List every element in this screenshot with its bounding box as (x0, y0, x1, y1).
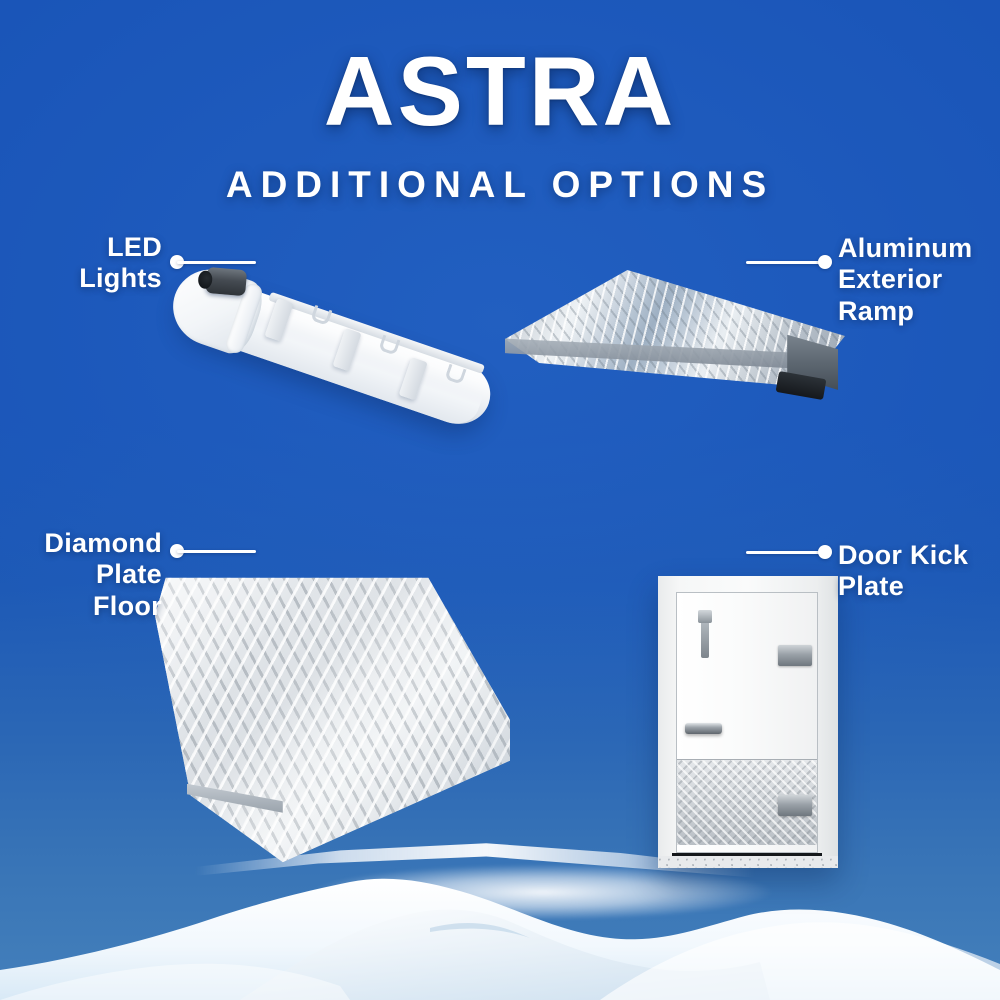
door-hinge-bottom (778, 795, 812, 816)
leader-bar (177, 550, 256, 553)
callout-led-lights: LED Lights (22, 232, 162, 295)
callout-door-kick-plate: Door Kick Plate (838, 540, 990, 603)
leader-dot-icon (818, 255, 832, 269)
product-image-aluminum-ramp (505, 270, 845, 420)
callout-label-led-lights: LED Lights (22, 232, 162, 295)
callout-label-diamond-plate-floor: Diamond Plate Floor (10, 528, 162, 622)
callout-label-door-kick-plate: Door Kick Plate (838, 540, 990, 603)
leader-line-door-kick-plate (746, 545, 832, 559)
door-leaf (676, 592, 818, 853)
door-floor-surface (658, 856, 838, 868)
led-cable-gland (205, 267, 247, 296)
door-handle (685, 723, 721, 735)
callout-diamond-plate-floor: Diamond Plate Floor (10, 528, 162, 622)
product-image-diamond-plate-floor (155, 575, 510, 865)
callout-label-aluminum-exterior-ramp: Aluminum Exterior Ramp (838, 233, 988, 327)
header: ASTRA ADDITIONAL OPTIONS (0, 0, 1000, 203)
diamond-plate-sheet (155, 575, 510, 865)
leader-bar (746, 551, 825, 554)
product-image-door-kick-plate (658, 576, 838, 868)
page-subtitle: ADDITIONAL OPTIONS (0, 166, 1000, 203)
leader-bar (746, 261, 825, 264)
product-image-led-lights (150, 268, 520, 443)
callout-aluminum-exterior-ramp: Aluminum Exterior Ramp (838, 233, 988, 327)
door-latch-head (698, 610, 712, 623)
leader-line-diamond-plate-floor (170, 544, 256, 558)
door-hinge-top (778, 645, 812, 666)
page-title: ASTRA (0, 42, 1000, 140)
leader-dot-icon (818, 545, 832, 559)
leader-line-aluminum-exterior-ramp (746, 255, 832, 269)
